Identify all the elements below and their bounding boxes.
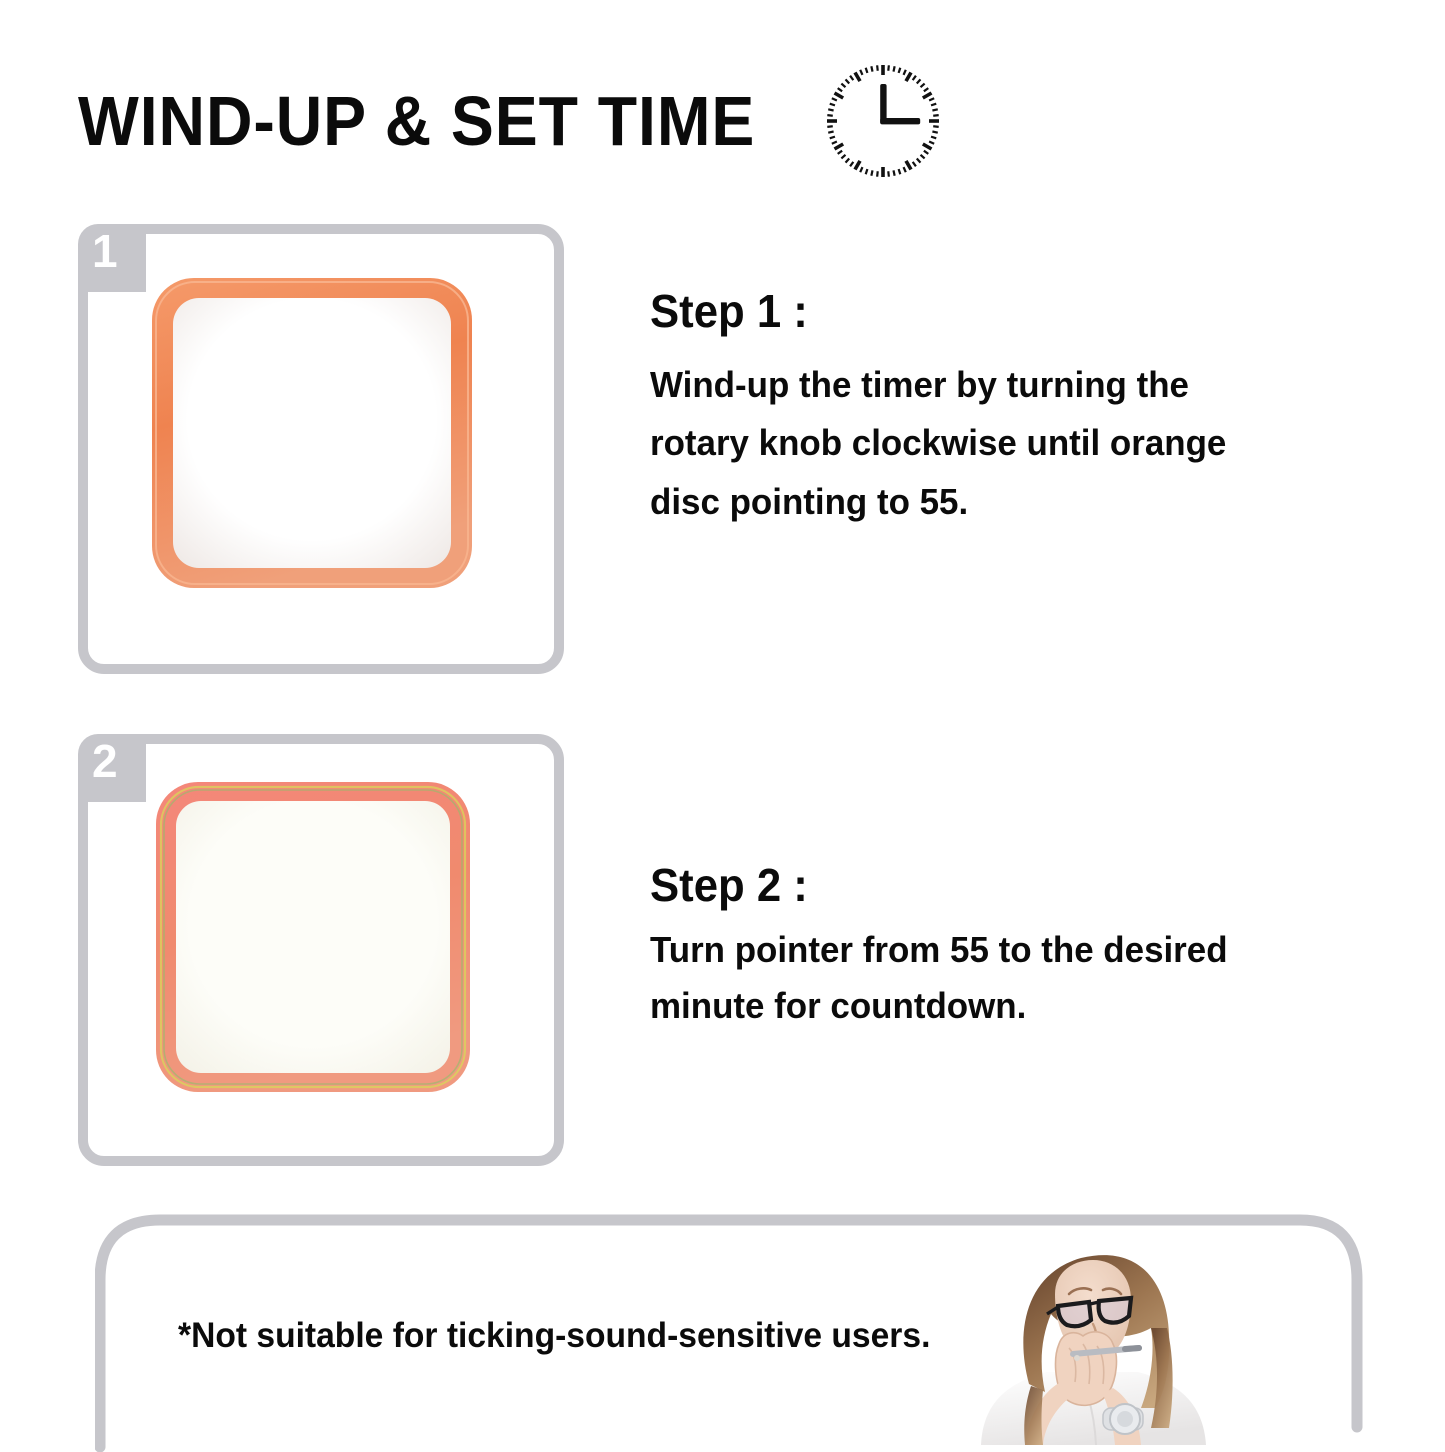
- step-2-body-line-2: minute for countdown.: [650, 978, 1368, 1034]
- step-1-badge: 1: [78, 224, 146, 292]
- clock-icon: [824, 62, 942, 180]
- step-1-heading: Step 1 :: [650, 288, 1334, 334]
- step-1-body-line-1: Wind-up the timer by turning the: [650, 356, 1348, 414]
- step-1-text: Step 1 : Wind-up the timer by turning th…: [650, 288, 1370, 531]
- timer-device-step-2[interactable]: [150, 768, 476, 1104]
- step-1-body-line-3: disc pointing to 55.: [650, 473, 1348, 531]
- page-title-row: WIND-UP & SET TIME: [78, 62, 942, 180]
- step-1-body: Wind-up the timer by turning the rotary …: [650, 356, 1348, 531]
- step-2-body: Turn pointer from 55 to the desired minu…: [650, 922, 1368, 1034]
- step-2-heading: Step 2 :: [650, 862, 1353, 908]
- footer-note: *Not suitable for ticking-sound-sensitiv…: [178, 1316, 930, 1356]
- page-title: WIND-UP & SET TIME: [78, 86, 755, 156]
- timer-device-step-1[interactable]: [147, 262, 477, 592]
- woman-thinking-photo: [963, 1232, 1219, 1445]
- step-2-badge: 2: [78, 734, 146, 802]
- step-2-text: Step 2 : Turn pointer from 55 to the des…: [650, 862, 1390, 1034]
- step-1-body-line-2: rotary knob clockwise until orange: [650, 414, 1348, 472]
- infographic-page: WIND-UP & SET TIME 1: [0, 0, 1445, 1445]
- step-2-body-line-1: Turn pointer from 55 to the desired: [650, 922, 1368, 978]
